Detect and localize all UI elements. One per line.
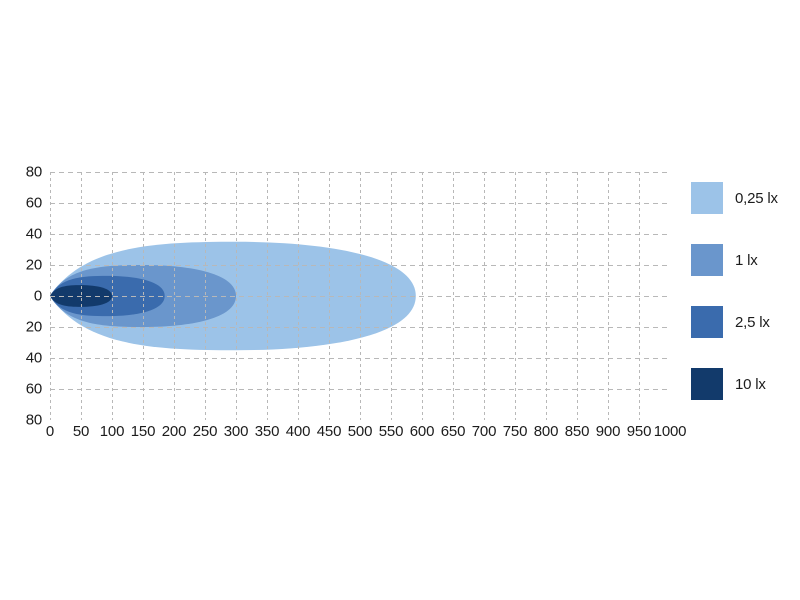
legend-item: 0,25 lx xyxy=(691,181,778,215)
y-axis-tick-label: 20 xyxy=(26,319,42,336)
legend-item-label: 2,5 lx xyxy=(735,314,770,331)
y-axis-tick-label: 80 xyxy=(26,412,42,429)
legend: 0,25 lx1 lx2,5 lx10 lx xyxy=(691,181,796,403)
x-axis-tick-label: 200 xyxy=(162,423,186,440)
x-axis-tick-label: 350 xyxy=(255,423,279,440)
y-axis-tick-label: 60 xyxy=(26,381,42,398)
y-axis-tick-label: 40 xyxy=(26,350,42,367)
legend-color-swatch xyxy=(691,306,723,338)
x-axis-tick-label: 750 xyxy=(503,423,527,440)
x-axis-tick-label: 50 xyxy=(73,423,89,440)
y-axis-tick-label: 60 xyxy=(26,195,42,212)
y-axis-tick-labels: 80604020020406080 xyxy=(0,172,42,420)
x-axis-tick-label: 1000 xyxy=(654,423,687,440)
x-axis-tick-label: 250 xyxy=(193,423,217,440)
x-axis-tick-label: 450 xyxy=(317,423,341,440)
legend-color-swatch xyxy=(691,368,723,400)
x-axis-tick-label: 800 xyxy=(534,423,558,440)
x-axis-tick-label: 150 xyxy=(131,423,155,440)
legend-item-label: 10 lx xyxy=(735,376,766,393)
legend-color-swatch xyxy=(691,182,723,214)
beam-pattern-shapes xyxy=(50,172,670,420)
x-axis-tick-label: 850 xyxy=(565,423,589,440)
legend-item-label: 0,25 lx xyxy=(735,190,778,207)
y-axis-tick-label: 20 xyxy=(26,257,42,274)
y-axis-tick-label: 40 xyxy=(26,226,42,243)
x-axis-tick-label: 0 xyxy=(46,423,54,440)
beam-region xyxy=(50,285,112,307)
x-axis-tick-label: 600 xyxy=(410,423,434,440)
x-axis-tick-label: 300 xyxy=(224,423,248,440)
legend-item: 2,5 lx xyxy=(691,305,770,339)
light-distribution-chart: 80604020020406080 0501001502002503003504… xyxy=(0,0,800,600)
legend-item: 10 lx xyxy=(691,367,766,401)
x-axis-tick-label: 950 xyxy=(627,423,651,440)
x-axis-tick-label: 700 xyxy=(472,423,496,440)
x-axis-tick-label: 650 xyxy=(441,423,465,440)
plot-area xyxy=(50,172,670,420)
x-axis-tick-label: 500 xyxy=(348,423,372,440)
x-axis-tick-label: 550 xyxy=(379,423,403,440)
plot-background xyxy=(50,172,670,420)
y-axis-tick-label: 0 xyxy=(34,288,42,305)
legend-item-label: 1 lx xyxy=(735,252,758,269)
legend-color-swatch xyxy=(691,244,723,276)
y-axis-tick-label: 80 xyxy=(26,164,42,181)
legend-item: 1 lx xyxy=(691,243,758,277)
x-axis-tick-label: 100 xyxy=(100,423,124,440)
x-axis-tick-label: 400 xyxy=(286,423,310,440)
x-axis-tick-label: 900 xyxy=(596,423,620,440)
x-axis-tick-labels: 0501001502002503003504004505005506006507… xyxy=(50,423,670,445)
